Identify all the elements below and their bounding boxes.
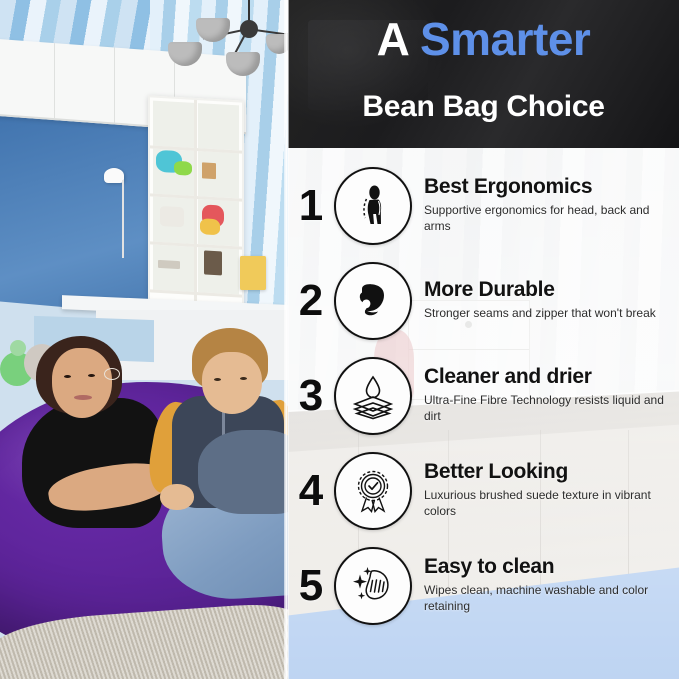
feature-row-3[interactable]: 3 Cleaner and drier Ultra-Fine Fibre Tec…	[288, 348, 679, 443]
flexed-bicep-icon	[334, 262, 412, 340]
toy	[160, 206, 184, 227]
feature-description: Stronger seams and zipper that won't bre…	[424, 306, 675, 322]
feature-title: More Durable	[424, 279, 675, 302]
feature-description: Wipes clean, machine washable and color …	[424, 583, 675, 615]
feature-description: Luxurious brushed suede texture in vibra…	[424, 488, 675, 520]
wiping-hand-sparkle-icon	[334, 547, 412, 625]
title-word-smarter: Smarter	[420, 13, 590, 65]
features-list: 1 Best Ergonomics Supportive ergonomics …	[288, 148, 679, 679]
header-banner: A Smarter Bean Bag Choice	[288, 0, 679, 148]
feature-text: Better Looking Luxurious brushed suede t…	[412, 461, 679, 520]
toy-book	[240, 256, 266, 290]
woman-face	[52, 348, 112, 418]
child-trousers	[198, 430, 288, 514]
feature-title: Better Looking	[424, 461, 675, 484]
toy	[204, 250, 222, 275]
feature-text: Best Ergonomics Supportive ergonomics fo…	[412, 176, 679, 235]
posture-person-icon	[334, 167, 412, 245]
child-hand	[160, 484, 194, 510]
feature-text: Easy to clean Wipes clean, machine washa…	[412, 556, 679, 615]
feature-title: Easy to clean	[424, 556, 675, 579]
toy	[158, 260, 180, 269]
toy	[202, 162, 216, 179]
feature-title: Cleaner and drier	[424, 366, 675, 389]
feature-row-1[interactable]: 1 Best Ergonomics Supportive ergonomics …	[288, 158, 679, 253]
wall-lamp-cord	[122, 180, 124, 258]
benefits-panel: A Smarter Bean Bag Choice 1 Best Ergonom…	[288, 0, 679, 679]
woman-eye	[88, 374, 95, 377]
toy	[174, 161, 192, 176]
feature-number: 2	[288, 279, 334, 323]
blue-accent-wall	[0, 101, 150, 314]
page-subtitle: Bean Bag Choice	[288, 92, 679, 122]
child-face	[202, 352, 262, 414]
feature-row-4[interactable]: 4 Better Looking	[288, 443, 679, 538]
chandelier-rod	[248, 0, 250, 22]
feature-title: Best Ergonomics	[424, 176, 675, 199]
page-title: A Smarter	[288, 16, 679, 62]
wall-lamp	[104, 168, 124, 183]
plush-toy	[10, 340, 26, 356]
feature-number: 4	[288, 469, 334, 513]
feature-description: Ultra-Fine Fibre Technology resists liqu…	[424, 393, 675, 425]
lifestyle-photo	[0, 0, 288, 679]
toy	[200, 218, 220, 235]
woman-eye	[64, 375, 71, 378]
feature-number: 5	[288, 564, 334, 608]
award-rosette-check-icon	[334, 452, 412, 530]
child-eye	[240, 377, 247, 380]
feature-row-2[interactable]: 2 More Durable Stronger seams and zipper…	[288, 253, 679, 348]
feature-number: 1	[288, 184, 334, 228]
product-infographic: A Smarter Bean Bag Choice 1 Best Ergonom…	[0, 0, 679, 679]
woman-earring	[104, 368, 120, 380]
water-droplet-on-fabric-layers-icon	[334, 357, 412, 435]
feature-number: 3	[288, 374, 334, 418]
feature-row-5[interactable]: 5	[288, 538, 679, 633]
feature-text: More Durable Stronger seams and zipper t…	[412, 279, 679, 322]
child-eye	[214, 378, 221, 381]
feature-text: Cleaner and drier Ultra-Fine Fibre Techn…	[412, 366, 679, 425]
title-word-a: A	[377, 13, 420, 65]
feature-description: Supportive ergonomics for head, back and…	[424, 203, 675, 235]
panel-divider	[284, 0, 289, 679]
woman-mouth	[74, 395, 92, 400]
